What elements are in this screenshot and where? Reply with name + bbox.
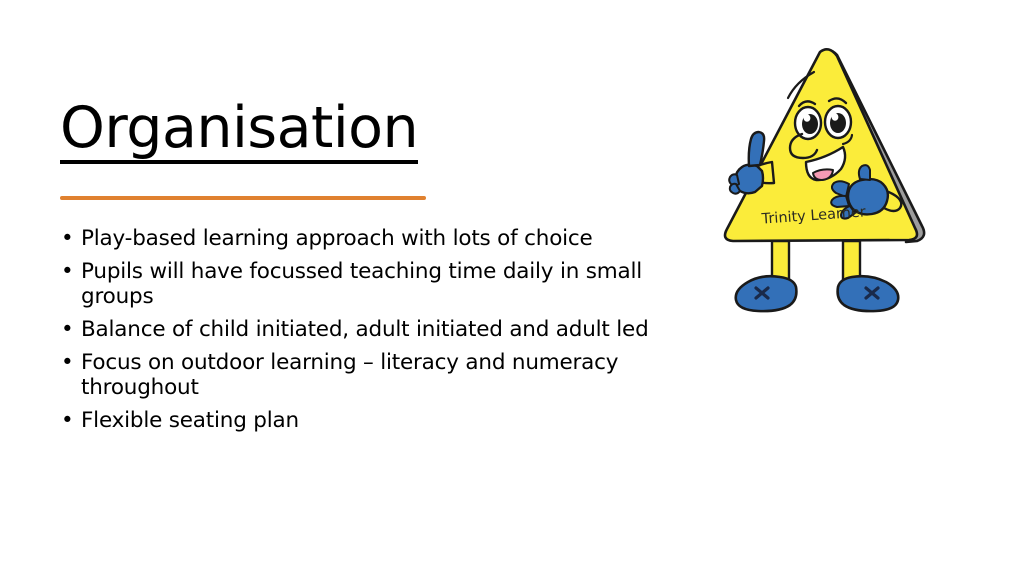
list-item: • Flexible seating plan [58, 408, 658, 433]
list-item: • Balance of child initiated, adult init… [58, 317, 658, 342]
left-shoe [736, 276, 797, 311]
right-eye [825, 106, 851, 138]
list-item-text: Balance of child initiated, adult initia… [81, 317, 649, 342]
slide-canvas: Organisation • Play-based learning appro… [0, 0, 1024, 576]
bullet-marker-icon: • [61, 259, 73, 284]
list-item-text: Flexible seating plan [81, 408, 299, 433]
list-item: • Focus on outdoor learning – literacy a… [58, 350, 658, 400]
list-item-text: Focus on outdoor learning – literacy and… [81, 350, 618, 400]
trinity-learner-triangle-mascot-icon: Trinity Learner [710, 38, 950, 318]
bullet-marker-icon: • [61, 408, 73, 433]
title-block: Organisation [60, 98, 680, 164]
bullet-list: • Play-based learning approach with lots… [58, 226, 658, 441]
list-item-text: Pupils will have focussed teaching time … [81, 259, 642, 309]
bullet-marker-icon: • [61, 350, 73, 375]
list-item: • Pupils will have focussed teaching tim… [58, 259, 658, 309]
right-leg [843, 241, 860, 281]
left-hand-pointing-glove [729, 132, 764, 194]
title-accent-rule [60, 196, 426, 200]
list-item-text: Play-based learning approach with lots o… [81, 226, 593, 251]
left-leg [772, 241, 789, 281]
right-shoe [838, 276, 899, 311]
bullet-marker-icon: • [61, 226, 73, 251]
page-title: Organisation [60, 98, 418, 164]
list-item: • Play-based learning approach with lots… [58, 226, 658, 251]
bullet-marker-icon: • [61, 317, 73, 342]
